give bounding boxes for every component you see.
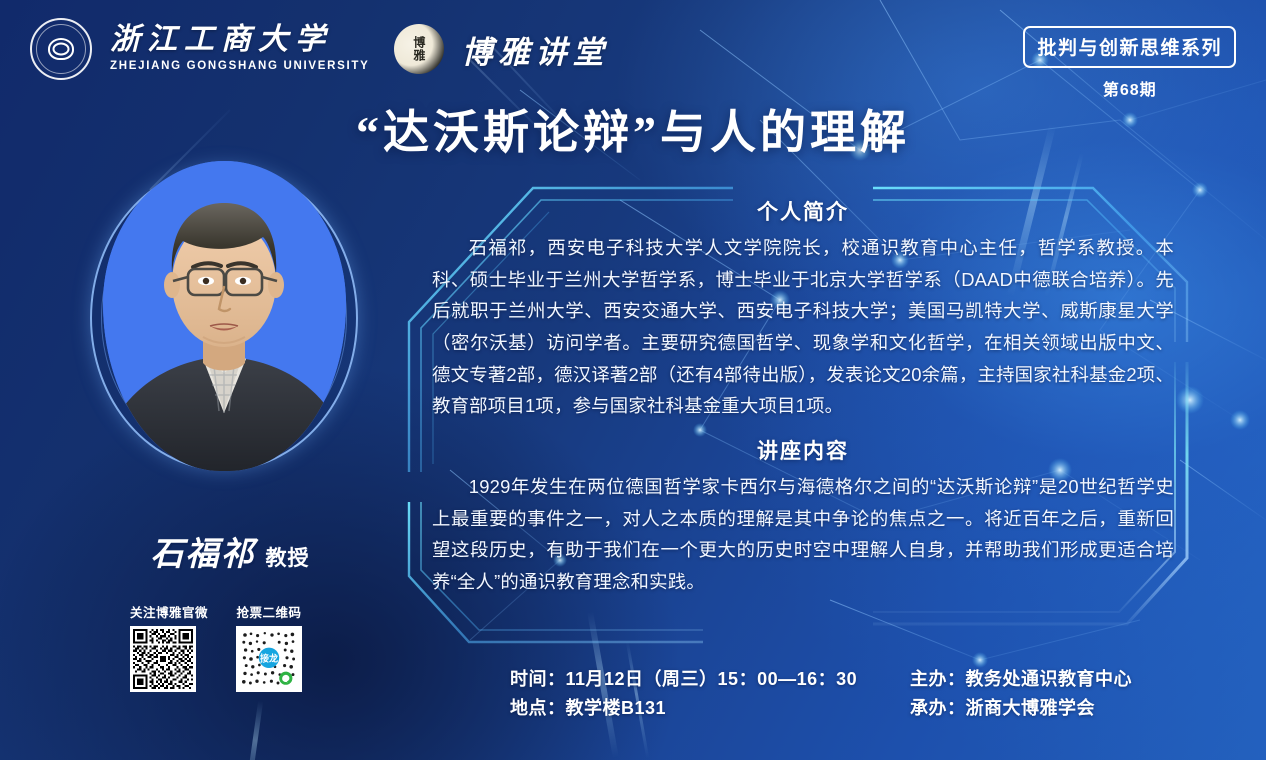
qr-item-official-wechat: 关注博雅官微	[130, 602, 208, 692]
footer-time: 时间：11月12日（周三）15：00—16：30	[510, 665, 910, 694]
university-emblem-icon	[30, 18, 92, 80]
footer-host: 承办：浙商大博雅学会	[910, 694, 1210, 723]
series-badge-group: 批判与创新思维系列 第68期	[1023, 26, 1236, 100]
section-heading-profile: 个人简介	[432, 196, 1174, 226]
poster-title: “达沃斯论辩”与人的理解	[0, 96, 1266, 162]
footer-organizer: 主办：教务处通识教育中心	[910, 665, 1210, 694]
brand-name-boya-jiangtang: 博雅讲堂	[462, 27, 610, 72]
section-body-lecture: 1929年发生在两位德国哲学家卡西尔与海德格尔之间的“达沃斯论辩”是20世纪哲学…	[432, 471, 1174, 598]
qr-code-group: 关注博雅官微	[130, 602, 302, 692]
footer-right-column: 主办：教务处通识教育中心 承办：浙商大博雅学会	[910, 665, 1210, 723]
section-profile: 个人简介 石福祁，西安电子科技大学人文学院院长，校通识教育中心主任，哲学系教授。…	[432, 196, 1174, 422]
poster-footer: 时间：11月12日（周三）15：00—16：30 地点：教学楼B131 主办：教…	[510, 665, 1210, 723]
qr-caption-ticket: 抢票二维码	[236, 602, 302, 621]
boya-seal-icon: 博雅	[394, 24, 444, 74]
poster-content: 个人简介 石福祁，西安电子科技大学人文学院院长，校通识教育中心主任，哲学系教授。…	[432, 196, 1174, 598]
speaker-name-line: 石福祁 教授	[97, 527, 363, 575]
qr-item-ticket: 抢票二维码	[236, 602, 302, 692]
footer-left-column: 时间：11月12日（周三）15：00—16：30 地点：教学楼B131	[510, 665, 910, 723]
speaker-title: 教授	[266, 542, 310, 572]
university-name-cn: 浙江工商大学	[110, 25, 370, 55]
university-name-en: ZHEJIANG GONGSHANG UNIVERSITY	[110, 61, 370, 73]
poster-header: 浙江工商大学 ZHEJIANG GONGSHANG UNIVERSITY 博雅 …	[30, 18, 610, 80]
university-name-block: 浙江工商大学 ZHEJIANG GONGSHANG UNIVERSITY	[110, 25, 370, 73]
section-heading-lecture: 讲座内容	[432, 435, 1174, 465]
speaker-name: 石福祁	[151, 527, 256, 575]
section-lecture-content: 讲座内容 1929年发生在两位德国哲学家卡西尔与海德格尔之间的“达沃斯论辩”是2…	[432, 435, 1174, 598]
speaker-portrait-group	[97, 161, 350, 477]
ticket-qr-icon[interactable]: 接龙	[236, 626, 302, 692]
qr-caption-official-wechat: 关注博雅官微	[130, 602, 208, 621]
series-label-badge: 批判与创新思维系列	[1023, 26, 1236, 68]
boya-seal-text: 博雅	[412, 36, 425, 62]
footer-place: 地点：教学楼B131	[510, 694, 910, 723]
speaker-photo	[103, 161, 346, 471]
wechat-official-qr-icon[interactable]	[130, 626, 196, 692]
section-body-profile: 石福祁，西安电子科技大学人文学院院长，校通识教育中心主任，哲学系教授。本科、硕士…	[432, 232, 1174, 422]
ticket-qr-logo-text: 接龙	[260, 652, 278, 663]
lecture-poster: 浙江工商大学 ZHEJIANG GONGSHANG UNIVERSITY 博雅 …	[0, 0, 1266, 760]
